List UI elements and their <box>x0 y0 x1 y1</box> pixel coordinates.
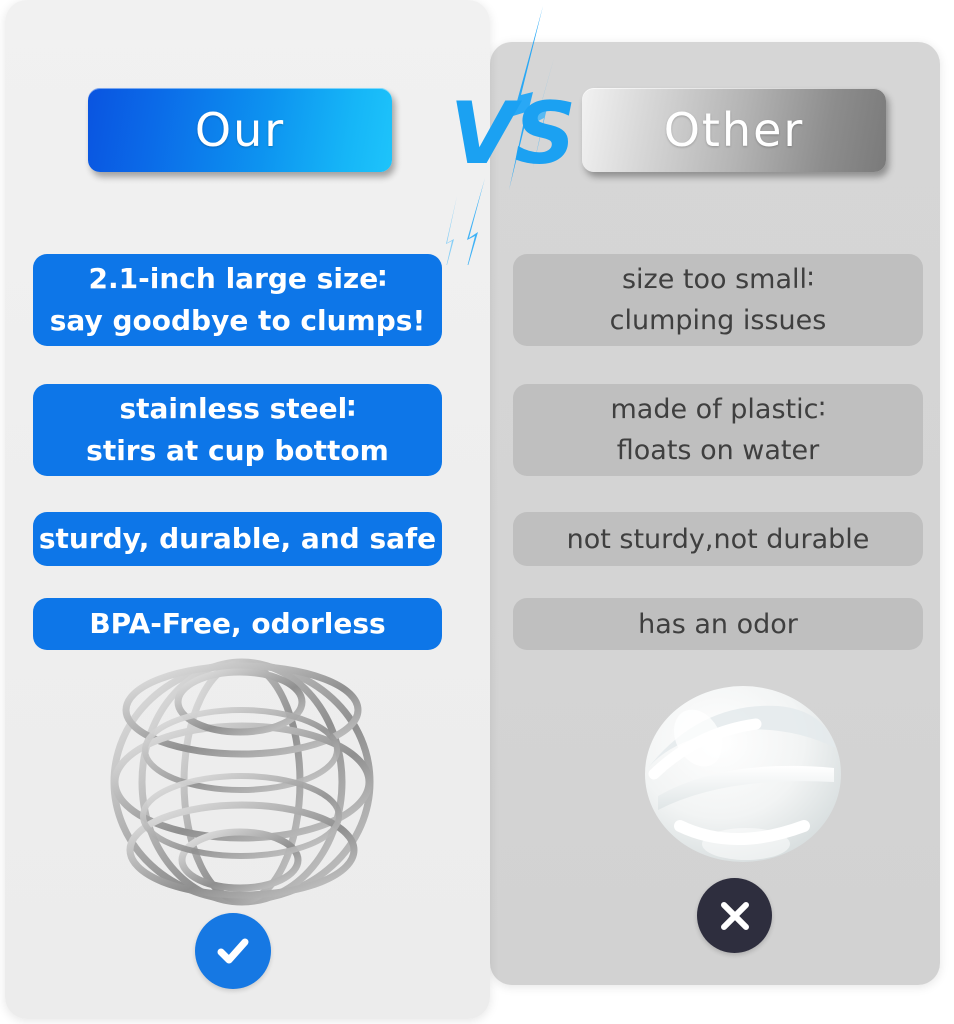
check-icon <box>211 929 255 973</box>
versus-label: VS <box>432 86 592 182</box>
cross-badge <box>697 878 772 953</box>
our-feature-row-2: stainless steel∶ stirs at cup bottom <box>33 384 442 476</box>
other-feature-row-3-line1: not sturdy,not durable <box>567 519 870 560</box>
other-feature-row-3: not sturdy,not durable <box>513 512 923 566</box>
our-feature-row-1: 2.1-inch large size∶ say goodbye to clum… <box>33 254 442 346</box>
our-feature-row-1-line2: say goodbye to clumps! <box>50 300 425 342</box>
other-header-label: Other <box>664 107 805 153</box>
our-feature-row-4: BPA-Free, odorless <box>33 598 442 650</box>
stainless-steel-wire-whisk-ball-image <box>100 650 385 915</box>
our-feature-row-3: sturdy, durable, and safe <box>33 512 442 566</box>
other-feature-row-2-line2: floats on water <box>617 430 819 471</box>
cross-icon <box>714 895 756 937</box>
our-feature-row-2-line2: stirs at cup bottom <box>86 430 389 472</box>
other-feature-row-2: made of plastic∶ floats on water <box>513 384 923 476</box>
our-feature-row-2-line1: stainless steel∶ <box>119 388 355 430</box>
other-feature-row-4: has an odor <box>513 598 923 650</box>
our-header-label: Our <box>195 107 285 153</box>
white-plastic-ribbed-ball-image <box>628 676 858 871</box>
comparison-infographic: Our Other VS 2.1-inch large size∶ say go… <box>0 0 954 1024</box>
other-feature-row-1-line1: size too small∶ <box>622 259 814 300</box>
other-feature-row-4-line1: has an odor <box>638 604 798 645</box>
our-feature-row-1-line1: 2.1-inch large size∶ <box>89 258 387 300</box>
our-header-badge: Our <box>88 88 392 172</box>
our-feature-row-3-line1: sturdy, durable, and safe <box>39 518 436 560</box>
check-badge <box>195 913 271 989</box>
other-feature-row-1: size too small∶ clumping issues <box>513 254 923 346</box>
other-header-badge: Other <box>582 88 886 172</box>
other-feature-row-1-line2: clumping issues <box>610 300 827 341</box>
other-feature-row-2-line1: made of plastic∶ <box>611 389 826 430</box>
our-feature-row-4-line1: BPA-Free, odorless <box>89 603 385 645</box>
